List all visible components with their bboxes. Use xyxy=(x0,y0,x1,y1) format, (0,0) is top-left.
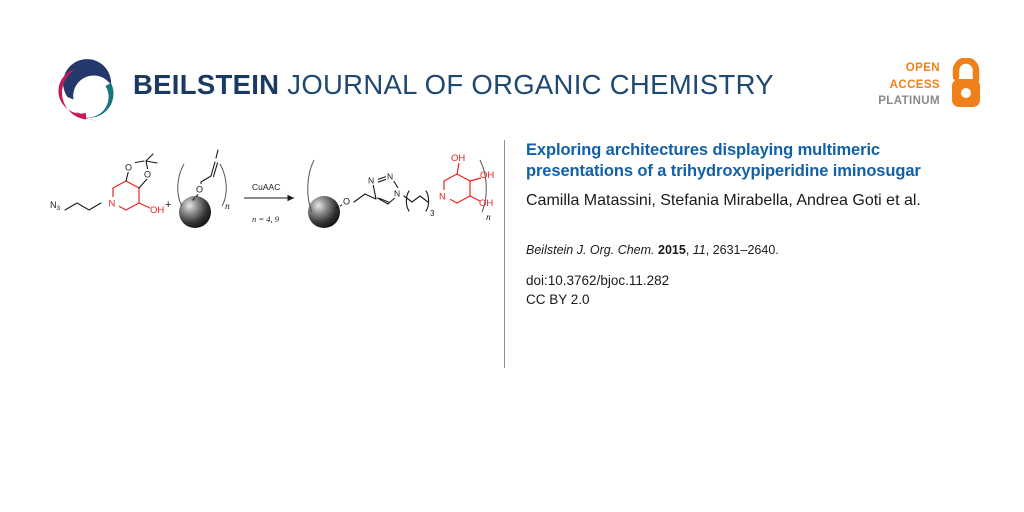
linker-index-label: 3 xyxy=(430,209,435,218)
triazole-n2-label: N xyxy=(368,176,374,186)
oa-line-access: ACCESS xyxy=(878,77,940,94)
plus-sign: + xyxy=(165,199,171,211)
article-authors: Camilla Matassini, Stefania Mirabella, A… xyxy=(526,190,978,211)
article-metadata-panel: Exploring architectures displaying multi… xyxy=(526,140,978,309)
oa-line-open: OPEN xyxy=(878,60,940,77)
wordmark-subtitle: JOURNAL OF ORGANIC CHEMISTRY xyxy=(279,69,774,100)
azide-label: N3 xyxy=(50,200,61,212)
product-piperidine-nitrogen-label: N xyxy=(439,192,446,203)
acetonide-oxygen-2-label: O xyxy=(144,170,151,180)
article-title[interactable]: Exploring architectures displaying multi… xyxy=(526,140,978,181)
citation-sep-3: , xyxy=(706,243,713,257)
citation-year: 2015 xyxy=(658,243,686,257)
article-license[interactable]: CC BY 2.0 xyxy=(526,290,978,309)
masthead: BEILSTEIN JOURNAL OF ORGANIC CHEMISTRY O… xyxy=(0,0,1024,138)
article-doi[interactable]: doi:10.3762/bjoc.11.282 xyxy=(526,271,978,290)
open-lock-icon xyxy=(944,58,984,110)
open-access-label: OPEN ACCESS PLATINUM xyxy=(878,60,940,110)
ether-oxygen-label-product: O xyxy=(343,197,350,207)
scaffold-sphere-product xyxy=(308,196,340,228)
repeat-index-product: n xyxy=(486,213,491,223)
citation-volume: 11 xyxy=(693,243,706,257)
oa-line-platinum: PLATINUM xyxy=(878,93,940,110)
ether-oxygen-label-reactant: O xyxy=(196,185,203,195)
acetonide-oxygen-1-label: O xyxy=(125,163,132,173)
hydroxyl-label-product-2: OH xyxy=(480,170,494,181)
valency-note: n = 4, 9 xyxy=(252,214,280,224)
citation-journal: Beilstein J. Org. Chem. xyxy=(526,243,655,257)
triazole-n1-label: N xyxy=(394,189,400,199)
scaffold-sphere-reactant xyxy=(179,196,211,228)
citation-pages: 2631–2640. xyxy=(713,243,779,257)
beilstein-ring-logo-icon xyxy=(55,57,123,123)
reaction-scheme-figure: N3 N O O OH + xyxy=(36,136,496,256)
hydroxyl-label-product-3: OH xyxy=(479,198,493,209)
wordmark-beilstein: BEILSTEIN xyxy=(133,69,279,100)
piperidine-nitrogen-label: N xyxy=(109,199,116,210)
reagent-label: CuAAC xyxy=(252,182,280,192)
article-citation: Beilstein J. Org. Chem. 2015, 11, 2631–2… xyxy=(526,243,978,257)
hydroxyl-label-reactant: OH xyxy=(150,205,164,216)
vertical-divider xyxy=(504,140,505,368)
hydroxyl-label-product-1: OH xyxy=(451,153,465,164)
open-access-badge: OPEN ACCESS PLATINUM xyxy=(872,58,984,114)
journal-wordmark: BEILSTEIN JOURNAL OF ORGANIC CHEMISTRY xyxy=(133,69,774,101)
citation-sep-2: , xyxy=(686,243,693,257)
triazole-n3-label: N xyxy=(387,172,393,182)
repeat-index-reactant: n xyxy=(225,202,230,212)
